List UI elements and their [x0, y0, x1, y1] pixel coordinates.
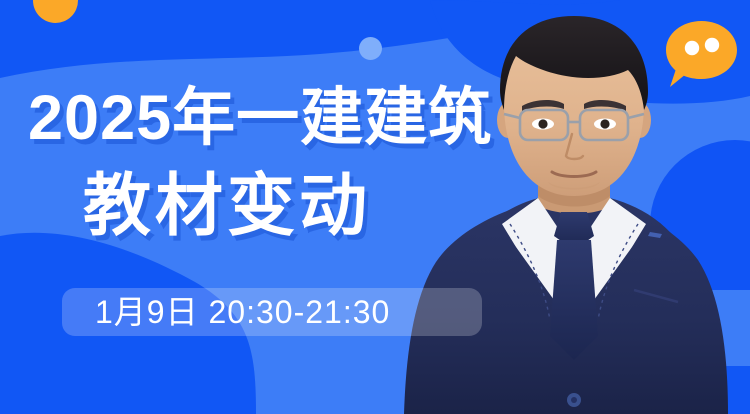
presenter-portrait	[398, 0, 750, 414]
promo-poster: 2025年一建建筑 教材变动 1月9日 20:30-21:30	[0, 0, 750, 414]
pupil-left	[538, 119, 547, 128]
pupil-right	[600, 119, 609, 128]
tie-blade	[550, 240, 598, 360]
jacket-button-hole	[571, 397, 577, 403]
portrait-illustration	[398, 0, 750, 414]
blue-circle	[359, 37, 382, 60]
schedule-text: 1月9日 20:30-21:30	[95, 290, 390, 334]
portrait-head	[497, 16, 651, 196]
